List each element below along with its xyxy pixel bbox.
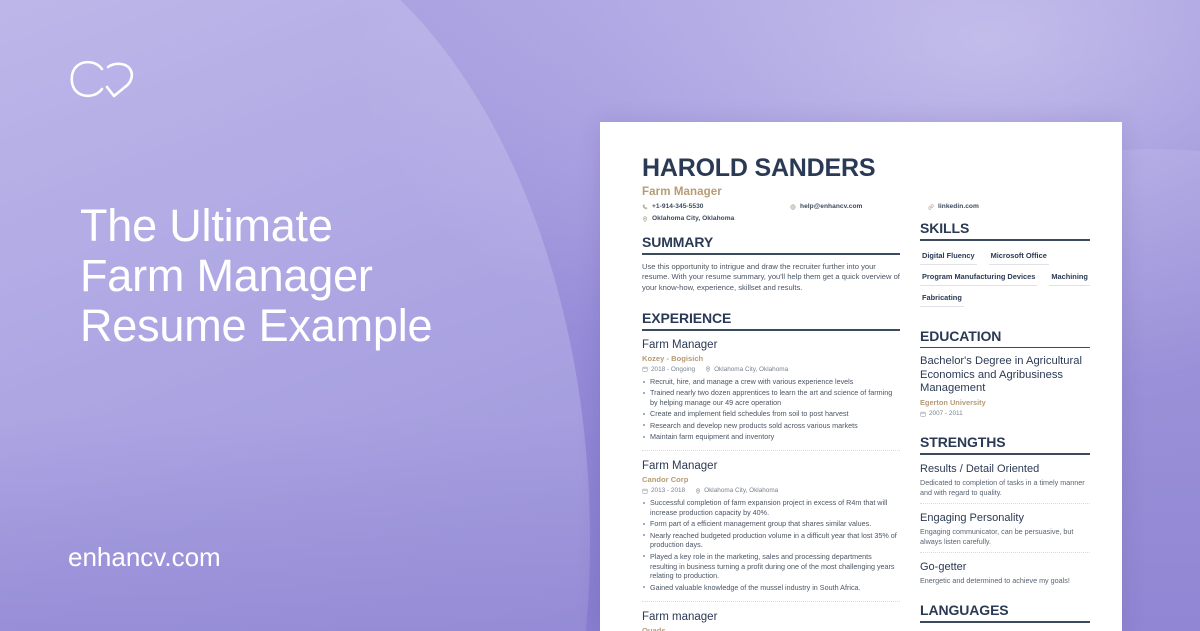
- experience-company: Quads: [642, 626, 900, 631]
- experience-heading: EXPERIENCE: [642, 310, 900, 326]
- list-item: Successful completion of farm expansion …: [642, 498, 900, 518]
- experience-role: Farm Manager: [642, 338, 900, 352]
- section-experience: EXPERIENCE Farm Manager Kozey - Bogisich…: [642, 310, 900, 631]
- experience-location-text: Oklahoma City, Oklahoma: [704, 487, 778, 494]
- education-meta: 2007 - 2011: [920, 410, 1090, 417]
- strength-item: Results / Detail Oriented Dedicated to c…: [920, 462, 1090, 504]
- skills-list: Digital Fluency Microsoft Office Program…: [920, 248, 1090, 311]
- list-item: Trained nearly two dozen apprentices to …: [642, 388, 900, 408]
- page-title-line-1: The Ultimate: [80, 201, 560, 251]
- list-item: Recruit, hire, and manage a crew with va…: [642, 377, 900, 387]
- experience-dates-text: 2018 - Ongoing: [651, 366, 695, 373]
- experience-role: Farm Manager: [642, 459, 900, 473]
- skill-tag: Program Manufacturing Devices: [920, 269, 1037, 286]
- education-degree: Bachelor's Degree in Agricultural Econom…: [920, 355, 1090, 395]
- strength-title: Engaging Personality: [920, 511, 1090, 525]
- brand-url: enhancv.com: [68, 542, 221, 573]
- experience-bullets: Recruit, hire, and manage a crew with va…: [642, 377, 900, 442]
- strengths-heading: STRENGTHS: [920, 434, 1090, 450]
- strength-desc: Dedicated to completion of tasks in a ti…: [920, 478, 1090, 497]
- experience-meta: 2013 - 2018 Oklahoma City, Oklahoma: [642, 487, 900, 494]
- promo-panel: The Ultimate Farm Manager Resume Example…: [0, 0, 600, 631]
- education-dates: 2007 - 2011: [920, 410, 963, 417]
- section-languages: LANGUAGES: [920, 602, 1090, 623]
- experience-rule: [642, 329, 900, 331]
- candidate-job-title: Farm Manager: [642, 186, 900, 198]
- summary-heading: SUMMARY: [642, 234, 900, 250]
- candidate-name: HAROLD SANDERS: [642, 155, 900, 182]
- experience-dates: 2013 - 2018: [642, 487, 685, 494]
- experience-company: Candor Corp: [642, 475, 900, 484]
- education-school: Egerton University: [920, 398, 1090, 407]
- location-pin-icon: [705, 366, 711, 372]
- list-item: Create and implement field schedules fro…: [642, 409, 900, 419]
- education-rule: [920, 347, 1090, 349]
- experience-location-text: Oklahoma City, Oklahoma: [714, 366, 788, 373]
- skills-heading: SKILLS: [920, 220, 1090, 236]
- section-summary: SUMMARY Use this opportunity to intrigue…: [642, 234, 900, 293]
- calendar-icon: [642, 488, 648, 494]
- experience-dates: 2018 - Ongoing: [642, 366, 695, 373]
- section-education: EDUCATION Bachelor's Degree in Agricultu…: [920, 328, 1090, 418]
- experience-dates-text: 2013 - 2018: [651, 487, 685, 494]
- experience-bullets: Successful completion of farm expansion …: [642, 498, 900, 592]
- experience-entry: Farm Manager Kozey - Bogisich 2018 - Ong…: [642, 338, 900, 451]
- experience-location: Oklahoma City, Oklahoma: [695, 487, 778, 494]
- calendar-icon: [920, 411, 926, 417]
- calendar-icon: [642, 366, 648, 372]
- page-title-line-2: Farm Manager: [80, 251, 560, 301]
- page-title: The Ultimate Farm Manager Resume Example: [80, 201, 560, 351]
- experience-entry: Farm Manager Candor Corp 2013 - 2018: [642, 459, 900, 602]
- experience-role: Farm manager: [642, 610, 900, 624]
- skill-tag: Digital Fluency: [920, 248, 977, 265]
- page-title-line-3: Resume Example: [80, 301, 560, 351]
- experience-company: Kozey - Bogisich: [642, 354, 900, 363]
- education-dates-text: 2007 - 2011: [929, 410, 963, 417]
- list-item: Gained valuable knowledge of the mussel …: [642, 583, 900, 593]
- location-pin-icon: [695, 488, 701, 494]
- resume-side-column: SKILLS Digital Fluency Microsoft Office …: [920, 155, 1090, 631]
- strength-desc: Energetic and determined to achieve my g…: [920, 576, 1090, 586]
- section-strengths: STRENGTHS Results / Detail Oriented Dedi…: [920, 434, 1090, 592]
- skill-tag: Microsoft Office: [989, 248, 1049, 265]
- experience-entry: Farm manager Quads 2011 - 2013: [642, 610, 900, 631]
- summary-rule: [642, 253, 900, 255]
- list-item: Played a key role in the marketing, sale…: [642, 552, 900, 581]
- list-item: Maintain farm equipment and inventory: [642, 432, 900, 442]
- skill-tag: Fabricating: [920, 290, 964, 307]
- strength-item: Engaging Personality Engaging communicat…: [920, 511, 1090, 553]
- summary-text: Use this opportunity to intrigue and dra…: [642, 262, 900, 294]
- enhancv-cv-logo: [68, 58, 142, 106]
- strength-title: Go-getter: [920, 560, 1090, 574]
- skills-rule: [920, 239, 1090, 241]
- strength-title: Results / Detail Oriented: [920, 462, 1090, 476]
- resume-preview-card[interactable]: +1-914-345-5530 help@enhancv.com linkedi…: [600, 122, 1122, 631]
- languages-heading: LANGUAGES: [920, 602, 1090, 618]
- experience-meta: 2018 - Ongoing Oklahoma City, Oklahoma: [642, 366, 900, 373]
- strength-item: Go-getter Energetic and determined to ac…: [920, 560, 1090, 592]
- strength-desc: Engaging communicator, can be persuasive…: [920, 527, 1090, 546]
- experience-location: Oklahoma City, Oklahoma: [705, 366, 788, 373]
- education-heading: EDUCATION: [920, 328, 1090, 344]
- list-item: Research and develop new products sold a…: [642, 421, 900, 431]
- section-skills: SKILLS Digital Fluency Microsoft Office …: [920, 220, 1090, 311]
- list-item: Nearly reached budgeted production volum…: [642, 531, 900, 551]
- strengths-rule: [920, 453, 1090, 455]
- list-item: Form part of a efficient management grou…: [642, 519, 900, 529]
- languages-rule: [920, 621, 1090, 623]
- resume-main-column: HAROLD SANDERS Farm Manager SUMMARY Use …: [642, 155, 900, 631]
- skill-tag: Machining: [1049, 269, 1090, 286]
